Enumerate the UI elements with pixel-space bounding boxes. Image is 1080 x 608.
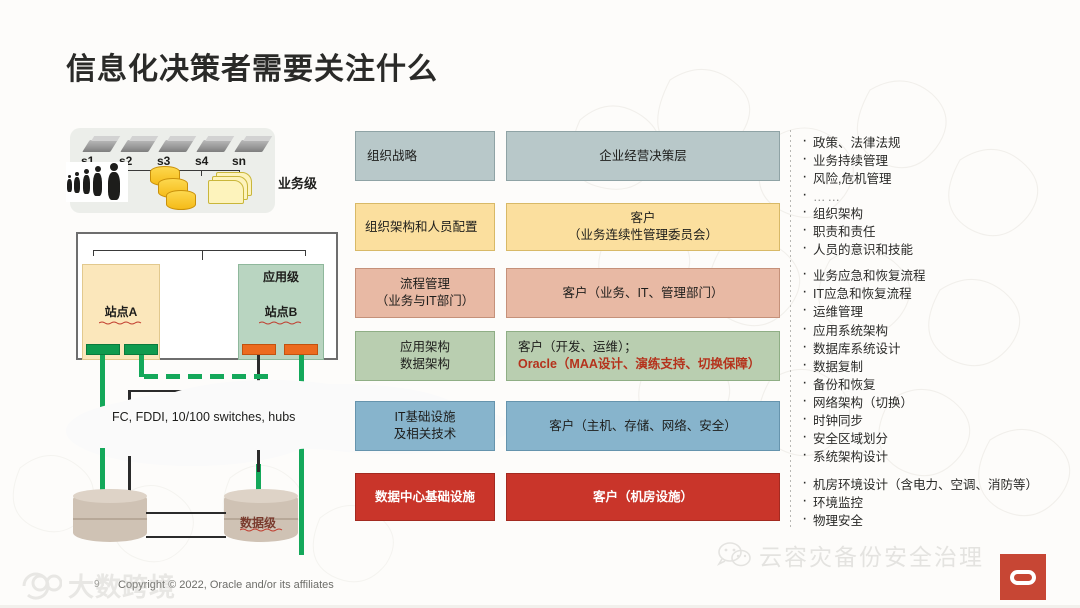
site-b-squiggle-icon <box>259 321 303 325</box>
storage-cylinder-a-band <box>73 518 147 520</box>
replication-dashed-link <box>144 374 270 379</box>
layer-right-box-1[interactable]: 客户 （业务连续性管理委员会） <box>506 203 780 251</box>
link-black-storage-a <box>128 456 131 492</box>
list-item: 机房环境设计（含电力、空调、消防等） <box>800 476 1038 494</box>
layer-left-label-0: 组织战略 <box>367 148 417 165</box>
watermark-right-text: 云容灾备份安全治理 <box>759 538 984 572</box>
database-disk-icon-3 <box>166 190 196 210</box>
document-stack-icon-front <box>208 180 244 204</box>
layer-left-box-0[interactable]: 组织战略 <box>355 131 495 181</box>
page-title: 信息化决策者需要关注什么 <box>66 44 438 88</box>
oracle-ring-icon <box>1010 570 1036 585</box>
layer-right-box-0[interactable]: 企业经营决策层 <box>506 131 780 181</box>
data-level-squiggle-icon <box>240 528 284 532</box>
layer-right-label-4: 客户（主机、存储、网络、安全） <box>549 418 737 435</box>
layer-left-label-5: 数据中心基础设施 <box>375 489 475 506</box>
storage-link-top <box>146 512 226 514</box>
server-bracket-tick-4 <box>201 170 202 176</box>
layer-right-box-2[interactable]: 客户（业务、IT、管理部门） <box>506 268 780 318</box>
app-bracket-tick-left <box>93 250 94 256</box>
layer-left-label-1: 组织架构和人员配置 <box>365 219 478 236</box>
layer-right-label-0: 企业经营决策层 <box>599 148 687 165</box>
watermark-left-text: 大数跨境 <box>68 567 176 604</box>
site-b-label: 站点B <box>239 303 323 320</box>
layer-right-label-3-line1: 客户（开发、运维）； <box>518 339 760 356</box>
watermark-left: 大数跨境 <box>10 567 176 604</box>
bullet-group-1: 组织架构 职责和责任 人员的意识和技能 <box>800 205 913 259</box>
list-item: 环境监控 <box>800 494 1038 512</box>
business-level-label: 业务级 <box>278 173 317 192</box>
link-green-storage-a <box>100 448 105 492</box>
network-cloud-label: FC, FDDI, 10/100 switches, hubs <box>112 410 312 425</box>
people-group-icon <box>66 162 128 202</box>
layer-left-box-1[interactable]: 组织架构和人员配置 <box>355 203 495 251</box>
list-item: 风险,危机管理 <box>800 170 901 188</box>
storage-cylinder-a <box>73 490 147 542</box>
site-a-squiggle-icon <box>99 321 143 325</box>
list-item: 网络架构（切换） <box>800 394 913 412</box>
list-item: 政策、法律法规 <box>800 134 901 152</box>
list-item: 人员的意识和技能 <box>800 241 913 259</box>
bullet-divider <box>790 130 791 528</box>
app-bracket-tick-right <box>305 250 306 256</box>
bullet-group-0: 政策、法律法规 业务持续管理 风险,危机管理 …… <box>800 134 901 206</box>
layer-left-label-3: 应用架构 数据架构 <box>400 339 450 373</box>
layer-left-box-2[interactable]: 流程管理 （业务与IT部门） <box>355 268 495 318</box>
layer-right-box-5[interactable]: 客户（机房设施） <box>506 473 780 521</box>
server-label-sn: sn <box>232 154 246 168</box>
site-b-port-1 <box>242 344 276 355</box>
slide-canvas: 信息化决策者需要关注什么 s1 s2 s3 s4 sn <box>0 0 1080 608</box>
layer-right-label-1: 客户 （业务连续性管理委员会） <box>568 210 718 244</box>
storage-link-bottom <box>146 536 226 538</box>
app-bracket <box>93 250 305 251</box>
layer-right-label-2: 客户（业务、IT、管理部门） <box>562 285 723 302</box>
layer-left-label-4: IT基础设施 及相关技术 <box>394 409 457 443</box>
list-item: 职责和责任 <box>800 223 913 241</box>
site-a-port-2 <box>124 344 158 355</box>
bullet-group-2: 业务应急和恢复流程 IT应急和恢复流程 运维管理 <box>800 267 926 321</box>
site-a-port-1 <box>86 344 120 355</box>
list-item: 数据复制 <box>800 358 901 376</box>
bullet-group-5: 机房环境设计（含电力、空调、消防等） 环境监控 物理安全 <box>800 476 1038 530</box>
server-label-s4: s4 <box>195 154 208 168</box>
bullet-group-3: 应用系统架构 数据库系统设计 数据复制 备份和恢复 <box>800 322 901 394</box>
layer-right-box-4[interactable]: 客户（主机、存储、网络、安全） <box>506 401 780 451</box>
bullet-group-4: 网络架构（切换） 时钟同步 安全区域划分 系统架构设计 <box>800 394 913 466</box>
routing-line-horizontal <box>128 390 260 392</box>
site-a-label: 站点A <box>83 303 159 320</box>
layer-left-box-3[interactable]: 应用架构 数据架构 <box>355 331 495 381</box>
layer-left-box-4[interactable]: IT基础设施 及相关技术 <box>355 401 495 451</box>
layer-left-label-2-line1: 流程管理 （业务与IT部门） <box>376 277 475 308</box>
list-item: 安全区域划分 <box>800 430 913 448</box>
layer-left-label-2: 流程管理 （业务与IT部门） <box>376 276 475 310</box>
list-item: 系统架构设计 <box>800 448 913 466</box>
application-level-label: 应用级 <box>238 268 324 285</box>
watermark-left-logo-icon <box>10 571 62 601</box>
list-item: 应用系统架构 <box>800 322 901 340</box>
layer-left-box-5[interactable]: 数据中心基础设施 <box>355 473 495 521</box>
list-item: 组织架构 <box>800 205 913 223</box>
architecture-illustration: s1 s2 s3 s4 sn <box>60 118 350 528</box>
routing-line-vertical <box>128 390 131 400</box>
list-item: 物理安全 <box>800 512 1038 530</box>
list-item: 业务应急和恢复流程 <box>800 267 926 285</box>
site-b-port-2 <box>284 344 318 355</box>
list-item: 数据库系统设计 <box>800 340 901 358</box>
oracle-logo <box>1000 554 1046 600</box>
link-green-b2 <box>299 355 304 555</box>
list-item: IT应急和恢复流程 <box>800 285 926 303</box>
layer-right-box-3[interactable]: 客户（开发、运维）； Oracle（MAA设计、演练支持、切换保障） <box>506 331 780 381</box>
watermark-right: 云容灾备份安全治理 <box>717 538 984 572</box>
list-item: 备份和恢复 <box>800 376 901 394</box>
list-item: 时钟同步 <box>800 412 913 430</box>
wechat-icon <box>717 541 751 569</box>
list-item: 业务持续管理 <box>800 152 901 170</box>
layer-right-label-3: 客户（开发、运维）； Oracle（MAA设计、演练支持、切换保障） <box>518 339 760 373</box>
layer-right-label-3-line2: Oracle（MAA设计、演练支持、切换保障） <box>518 356 760 373</box>
app-bracket-tick-mid <box>202 250 203 260</box>
layer-right-label-5: 客户（机房设施） <box>593 489 693 506</box>
list-item: …… <box>800 188 901 206</box>
list-item: 运维管理 <box>800 303 926 321</box>
link-black-storage-b <box>257 450 260 472</box>
